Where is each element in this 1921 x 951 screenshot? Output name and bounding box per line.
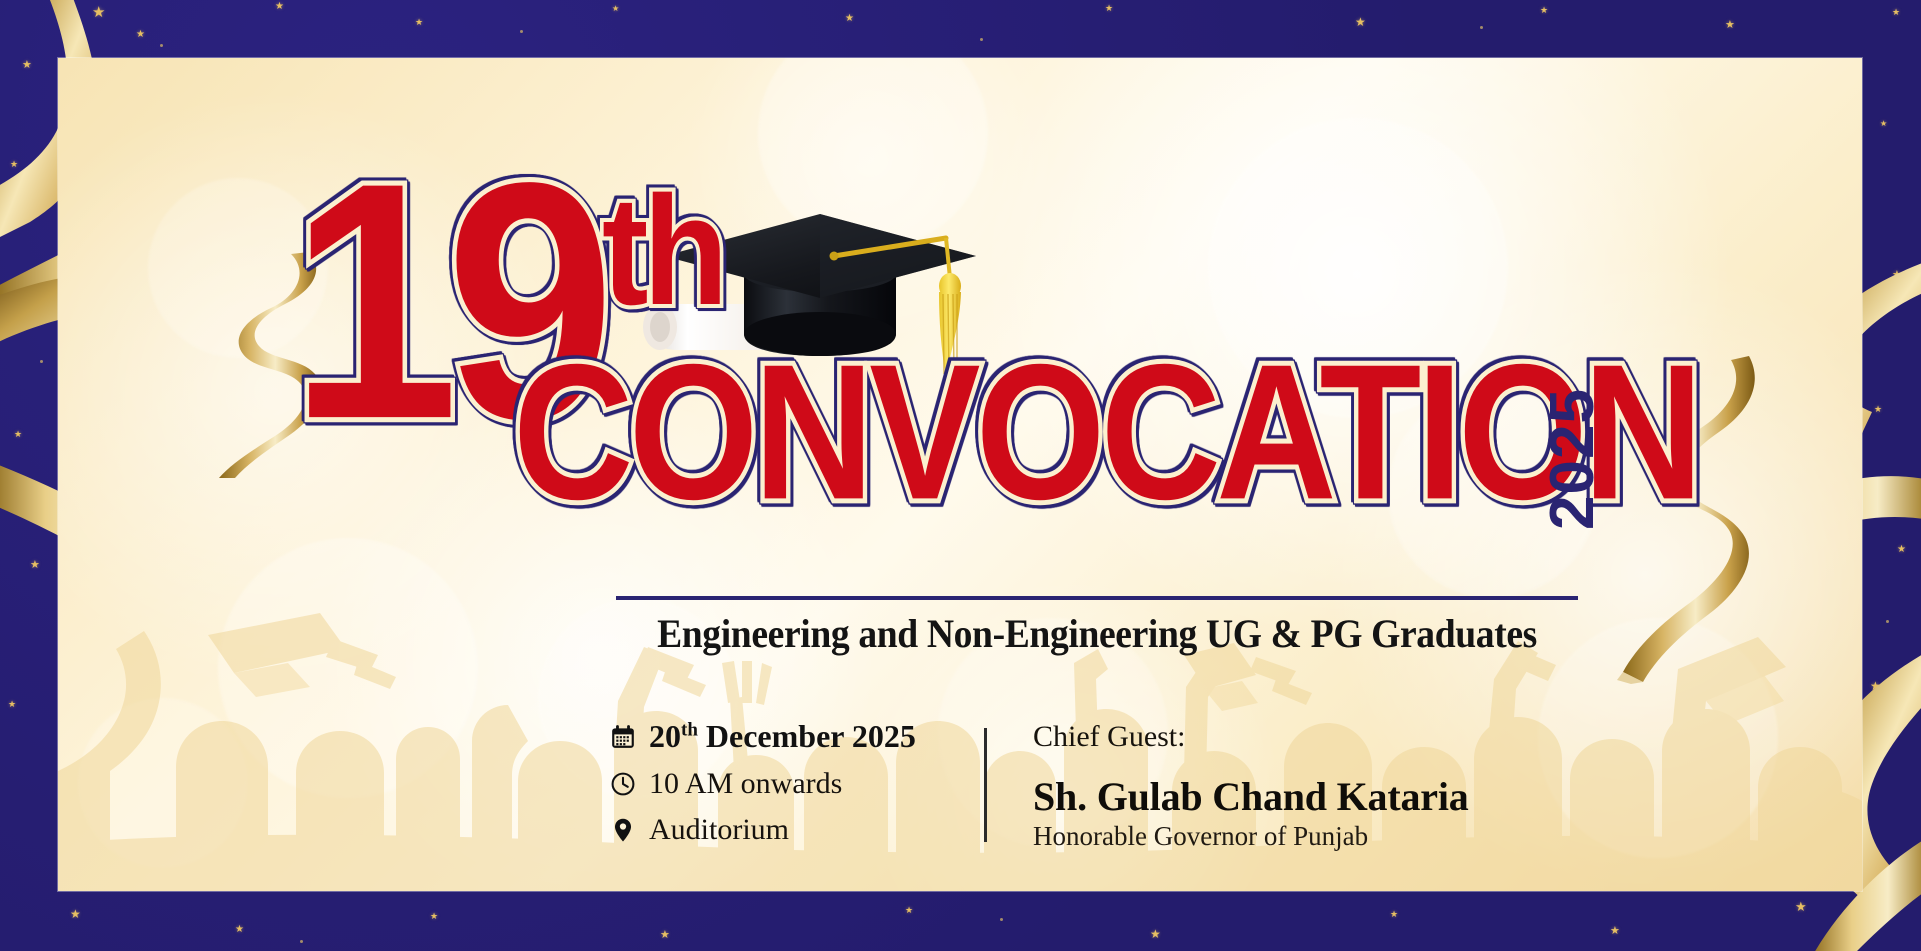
gold-star-icon: ★: [612, 5, 619, 13]
event-month-year: December 2025: [698, 718, 916, 754]
title-divider-rule: [616, 596, 1578, 600]
event-date-text: 20th December 2025: [649, 718, 916, 755]
gold-star-icon: ★: [1355, 16, 1366, 28]
star-dot: [1000, 918, 1003, 921]
detail-row-date: 20th December 2025: [610, 718, 940, 755]
star-dot: [520, 30, 523, 33]
invitation-card: 19th CONVOCATION 2025 Engineering and No…: [58, 58, 1862, 891]
location-pin-icon: [610, 817, 636, 843]
ordinal-suffix: th: [602, 164, 723, 337]
star-dot: [300, 940, 303, 943]
gold-star-icon: ★: [235, 925, 244, 935]
gold-star-icon: ★: [415, 18, 423, 27]
gold-star-icon: ★: [905, 906, 913, 915]
gold-star-icon: ★: [1892, 8, 1900, 17]
gold-star-icon: ★: [845, 14, 854, 24]
gold-star-icon: ★: [1150, 928, 1161, 940]
detail-row-time: 10 AM onwards: [610, 767, 940, 801]
star-dot: [980, 38, 983, 41]
chief-guest-name: Sh. Gulab Chand Kataria: [1033, 776, 1469, 818]
year-vertical-label: 2025: [1537, 388, 1608, 530]
subtitle-text: Engineering and Non-Engineering UG & PG …: [645, 610, 1549, 657]
vertical-divider: [984, 728, 987, 842]
event-time-text: 10 AM onwards: [649, 767, 842, 801]
gold-star-icon: ★: [660, 930, 670, 941]
gold-star-icon: ★: [1880, 120, 1887, 128]
gold-star-icon: ★: [430, 912, 438, 921]
calendar-icon: [610, 724, 636, 750]
event-info-row: 20th December 2025 10 AM onwards Auditor…: [610, 718, 1469, 852]
event-details-list: 20th December 2025 10 AM onwards Auditor…: [610, 718, 940, 847]
chief-guest-label: Chief Guest:: [1033, 720, 1469, 754]
star-dot: [1886, 620, 1889, 623]
gold-star-icon: ★: [70, 908, 81, 920]
gold-star-icon: ★: [1610, 926, 1620, 937]
event-day: 20: [649, 718, 681, 754]
convocation-banner: ★ ★ ★ ★ ★ ★ ★ ★ ★ ★ ★ ★ ★ ★ ★ ★ ★ ★ ★ ★ …: [0, 0, 1921, 951]
clock-icon: [610, 771, 636, 797]
convocation-title: CONVOCATION: [513, 346, 1699, 519]
star-dot: [1480, 26, 1483, 29]
event-day-suffix: th: [681, 719, 698, 740]
chief-guest-block: Chief Guest: Sh. Gulab Chand Kataria Hon…: [1033, 718, 1469, 852]
detail-row-venue: Auditorium: [610, 813, 940, 847]
gold-star-icon: ★: [1390, 910, 1398, 919]
gold-star-icon: ★: [1105, 4, 1113, 13]
event-venue-text: Auditorium: [649, 813, 789, 847]
gold-star-icon: ★: [8, 700, 16, 709]
gold-star-icon: ★: [1540, 6, 1548, 15]
gold-star-icon: ★: [1725, 20, 1735, 31]
chief-guest-role: Honorable Governor of Punjab: [1033, 821, 1469, 852]
